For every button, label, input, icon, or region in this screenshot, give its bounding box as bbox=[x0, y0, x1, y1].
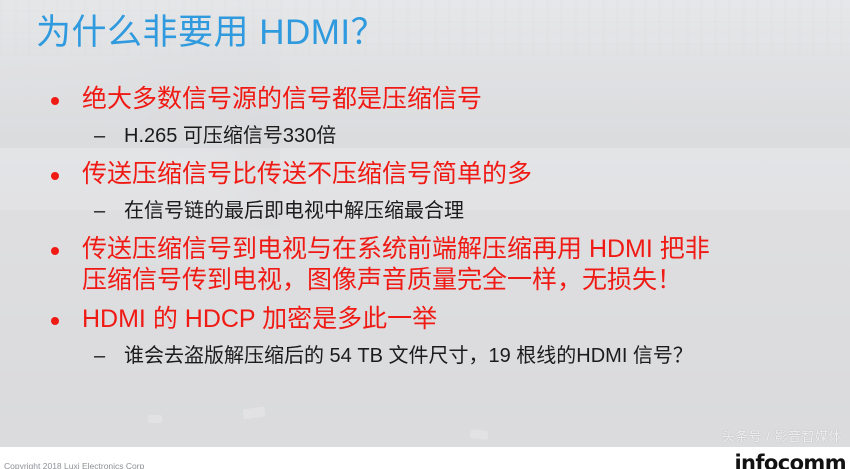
bullet-level2: – H.265 可压缩信号330倍 bbox=[44, 123, 844, 149]
bullet-dot-icon bbox=[51, 97, 59, 105]
bullet-text-line1: 传送压缩信号到电视与在系统前端解压缩再用 HDMI 把非 bbox=[82, 234, 844, 265]
bullet-level1: 绝大多数信号源的信号都是压缩信号 bbox=[44, 84, 844, 115]
bullet-level1-multiline: 传送压缩信号到电视与在系统前端解压缩再用 HDMI 把非 压缩信号传到电视，图像… bbox=[44, 234, 844, 296]
slide-footer: Copyright 2018 Luxi Electronics Corp inf… bbox=[0, 447, 850, 469]
bullet-text: 谁会去盗版解压缩后的 54 TB 文件尺寸，19 根线的HDMI 信号？ bbox=[124, 345, 693, 367]
bullet-text: 在信号链的最后即电视中解压缩最合理 bbox=[124, 200, 464, 222]
bullet-text: 传送压缩信号比传送不压缩信号简单的多 bbox=[82, 159, 844, 190]
presentation-slide: 为什么非要用 HDMI？ 绝大多数信号源的信号都是压缩信号 – H.265 可压… bbox=[0, 0, 850, 469]
bullet-level1: HDMI 的 HDCP 加密是多此一举 bbox=[44, 304, 844, 335]
slide-content: 为什么非要用 HDMI？ 绝大多数信号源的信号都是压缩信号 – H.265 可压… bbox=[0, 0, 850, 469]
bullet-text: 传送压缩信号到电视与在系统前端解压缩再用 HDMI 把非 压缩信号传到电视，图像… bbox=[82, 234, 844, 296]
dash-icon: – bbox=[94, 198, 105, 224]
bullet-text: 绝大多数信号源的信号都是压缩信号 bbox=[82, 84, 844, 115]
copyright-text: Copyright 2018 Luxi Electronics Corp bbox=[4, 461, 144, 469]
bullet-text-line2: 压缩信号传到电视，图像声音质量完全一样，无损失！ bbox=[82, 265, 844, 296]
dash-icon: – bbox=[94, 123, 105, 149]
bullet-dot-icon bbox=[51, 172, 59, 180]
infocomm-logo: infocomm bbox=[734, 451, 846, 469]
bullet-dot-icon bbox=[51, 247, 59, 255]
bullet-level1: 传送压缩信号比传送不压缩信号简单的多 bbox=[44, 159, 844, 190]
bullet-level2: – 谁会去盗版解压缩后的 54 TB 文件尺寸，19 根线的HDMI 信号？ bbox=[44, 343, 844, 369]
slide-title: 为什么非要用 HDMI？ bbox=[36, 11, 386, 55]
bullet-text: HDMI 的 HDCP 加密是多此一举 bbox=[82, 304, 844, 335]
bullet-text: H.265 可压缩信号330倍 bbox=[124, 125, 336, 147]
bullet-dot-icon bbox=[51, 317, 59, 325]
dash-icon: – bbox=[94, 343, 105, 369]
bullet-level2: – 在信号链的最后即电视中解压缩最合理 bbox=[44, 198, 844, 224]
slide-body: 绝大多数信号源的信号都是压缩信号 – H.265 可压缩信号330倍 传送压缩信… bbox=[44, 84, 844, 371]
